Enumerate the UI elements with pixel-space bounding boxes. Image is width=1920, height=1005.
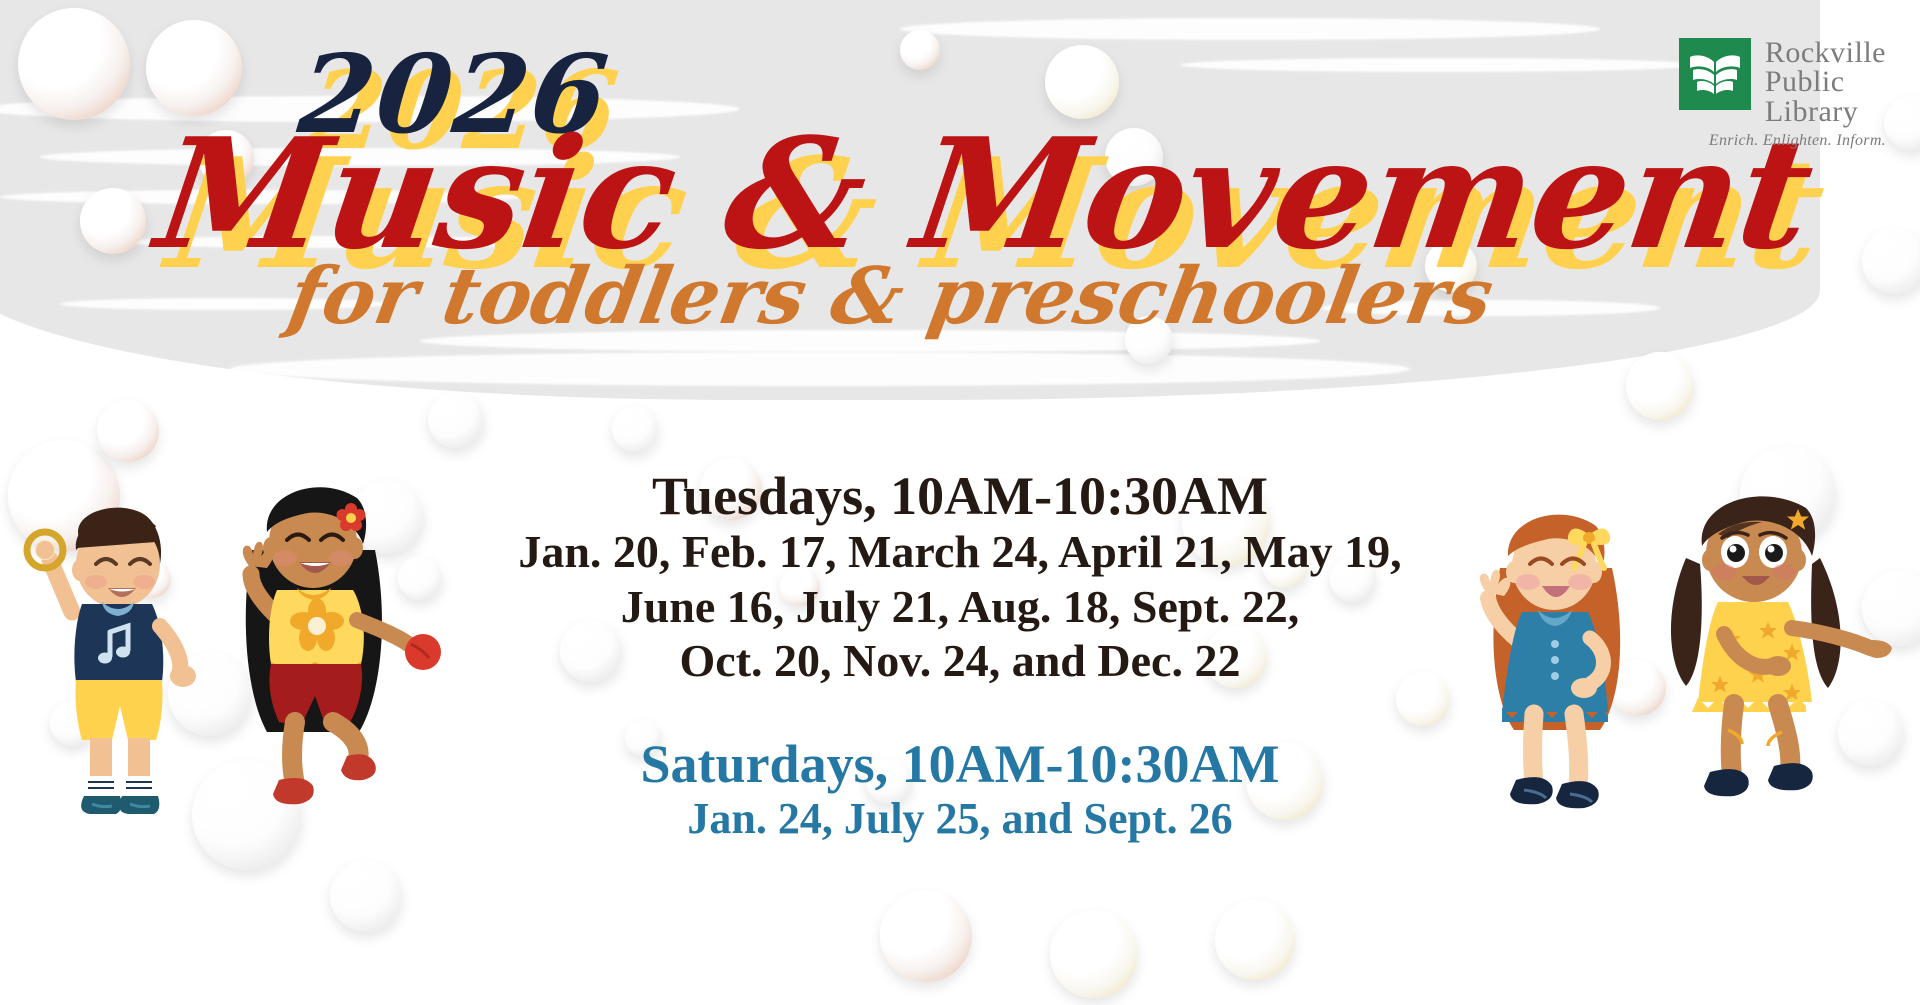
library-name: Rockville Public Library <box>1765 38 1886 126</box>
brush-streak <box>40 148 680 166</box>
logo-line-1: Rockville <box>1765 38 1886 67</box>
bubble <box>1862 228 1920 294</box>
bubble <box>146 20 242 116</box>
bubble <box>97 400 159 462</box>
tuesday-dates-line-1: Jan. 20, Feb. 17, March 24, April 21, Ma… <box>0 525 1920 579</box>
brush-streak <box>60 298 390 310</box>
bubble <box>900 30 940 70</box>
poster-canvas: 2026 Music & Movement for toddlers & pre… <box>0 0 1920 1005</box>
tuesday-dates-line-3: Oct. 20, Nov. 24, and Dec. 22 <box>0 634 1920 688</box>
brush-streak <box>230 352 1410 386</box>
logo-line-2: Public <box>1765 67 1886 96</box>
tuesday-dates-line-2: June 16, July 21, Aug. 18, Sept. 22, <box>0 580 1920 634</box>
bubble <box>1050 910 1138 998</box>
logo-line-3: Library <box>1765 97 1886 126</box>
library-logo: Rockville Public Library Enrich. Enlight… <box>1586 38 1886 150</box>
bubble <box>1884 96 1920 150</box>
bubble <box>1425 240 1477 292</box>
schedule-block: Tuesdays, 10AM-10:30AM Jan. 20, Feb. 17,… <box>0 468 1920 845</box>
library-tagline: Enrich. Enlighten. Inform. <box>1709 132 1886 150</box>
bubble <box>330 860 402 932</box>
open-book-icon <box>1679 38 1751 110</box>
saturday-heading: Saturdays, 10AM-10:30AM <box>0 736 1920 793</box>
bubble <box>1045 45 1119 119</box>
brush-streak <box>120 236 550 248</box>
brush-streak <box>900 18 1600 40</box>
brush-streak <box>1320 300 1660 316</box>
tuesday-heading: Tuesdays, 10AM-10:30AM <box>0 468 1920 525</box>
bubble <box>1105 128 1163 186</box>
saturday-block: Saturdays, 10AM-10:30AM Jan. 24, July 25… <box>0 736 1920 845</box>
saturday-dates-line-1: Jan. 24, July 25, and Sept. 26 <box>0 793 1920 845</box>
bubble <box>428 392 484 448</box>
bubble <box>18 8 130 120</box>
bubble <box>1215 900 1295 980</box>
bubble <box>1626 352 1694 420</box>
bubble <box>612 406 658 452</box>
bubble <box>80 188 146 254</box>
bubble <box>880 890 972 982</box>
bubble <box>1125 316 1173 364</box>
bubble <box>198 130 254 186</box>
brush-streak <box>420 330 1320 352</box>
brush-streak <box>0 190 520 204</box>
